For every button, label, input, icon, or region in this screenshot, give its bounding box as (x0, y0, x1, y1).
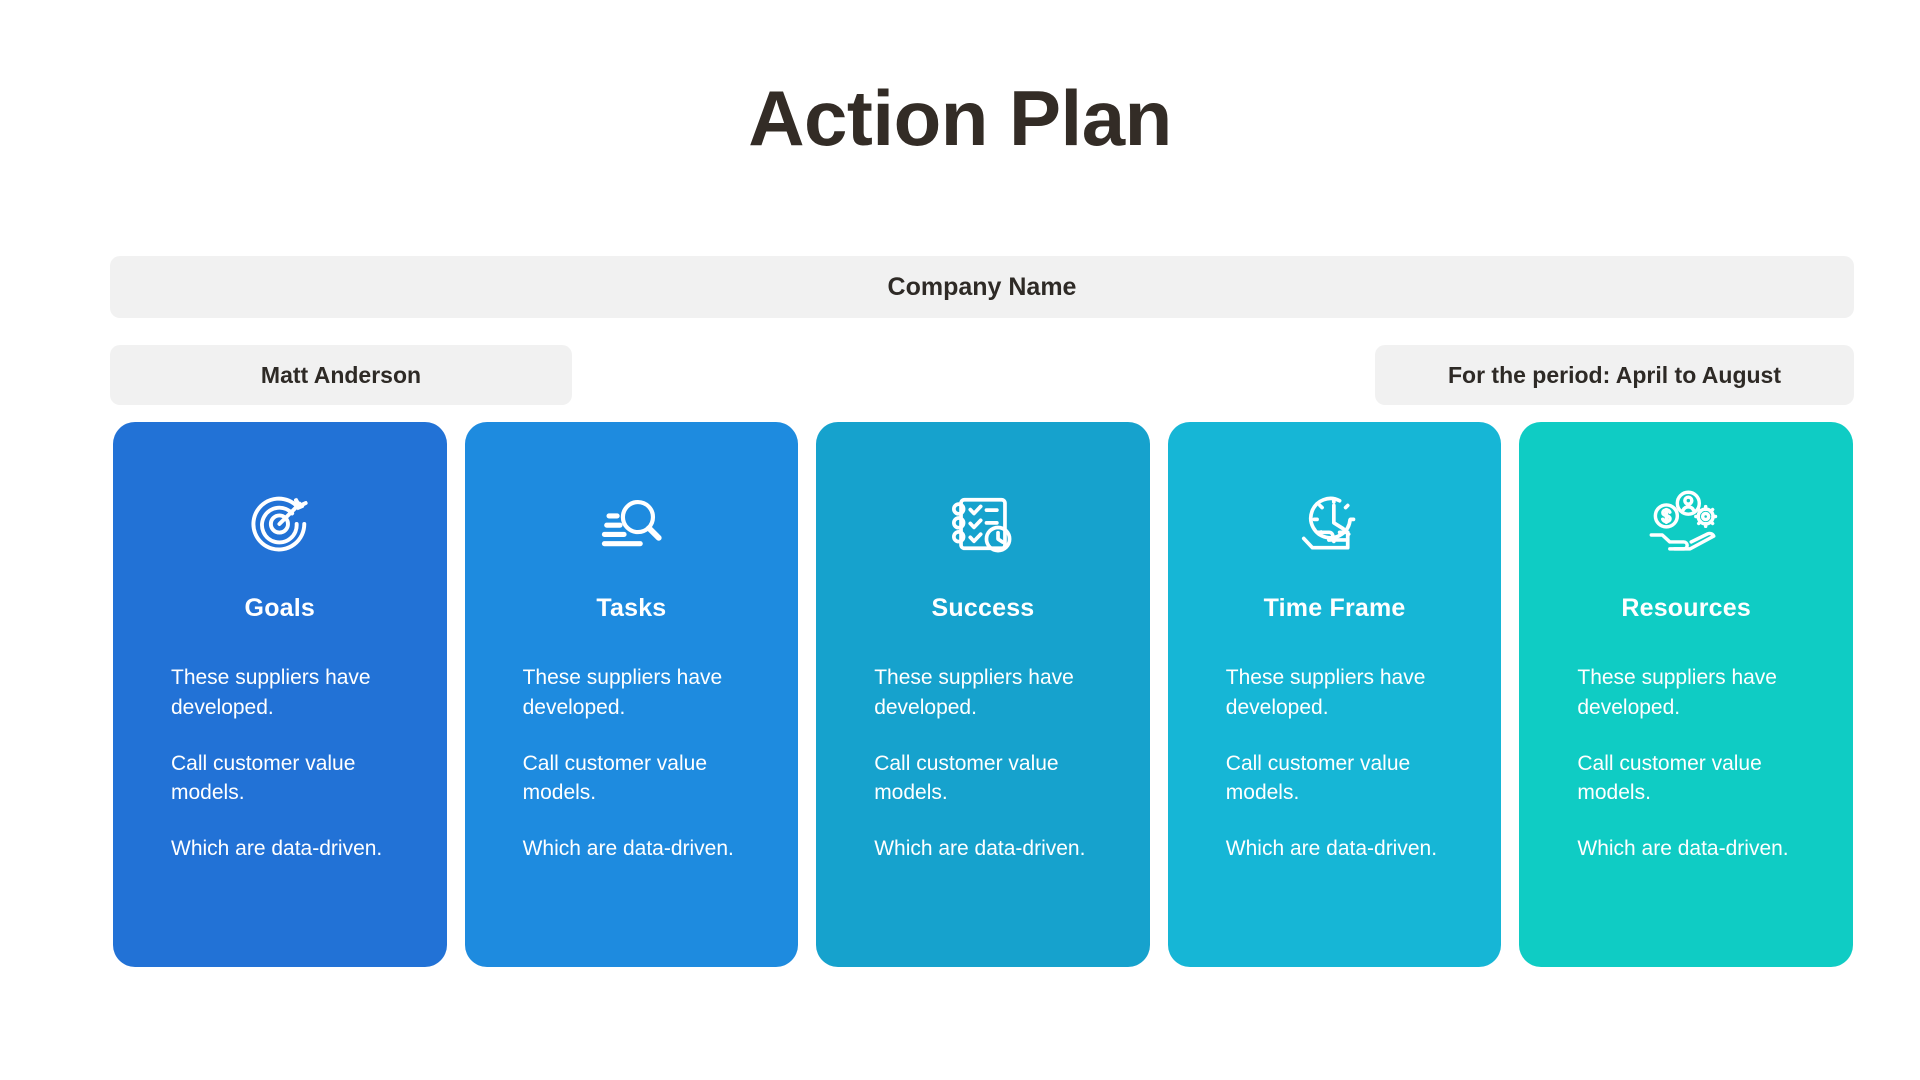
target-arrow-icon (113, 464, 447, 584)
card-line: These suppliers have developed. (523, 663, 755, 723)
card-line: Call customer value models. (1577, 749, 1809, 809)
card-line: Call customer value models. (1226, 749, 1458, 809)
period-label: For the period: April to August (1448, 362, 1781, 389)
card-title: Success (816, 594, 1150, 623)
magnifier-list-icon (465, 464, 799, 584)
card-line: Call customer value models. (523, 749, 755, 809)
owner-name-label: Matt Anderson (261, 362, 421, 389)
card-line: These suppliers have developed. (1577, 663, 1809, 723)
card-line: These suppliers have developed. (1226, 663, 1458, 723)
hand-resources-icon (1519, 464, 1853, 584)
card-line: These suppliers have developed. (874, 663, 1106, 723)
card-line: Which are data-driven. (874, 834, 1106, 864)
card-line: Which are data-driven. (1226, 834, 1458, 864)
card-title: Time Frame (1168, 594, 1502, 623)
card-line: These suppliers have developed. (171, 663, 403, 723)
card-line: Which are data-driven. (523, 834, 755, 864)
card-title: Tasks (465, 594, 799, 623)
card-body: These suppliers have developed. Call cus… (113, 663, 447, 864)
card-body: These suppliers have developed. Call cus… (465, 663, 799, 864)
card-line: Which are data-driven. (171, 834, 403, 864)
hand-clock-icon (1168, 464, 1502, 584)
company-name-label: Company Name (888, 273, 1077, 302)
card-time-frame[interactable]: Time Frame These suppliers have develope… (1168, 422, 1502, 967)
card-body: These suppliers have developed. Call cus… (1519, 663, 1853, 864)
card-goals[interactable]: Goals These suppliers have developed. Ca… (113, 422, 447, 967)
card-body: These suppliers have developed. Call cus… (816, 663, 1150, 864)
page-title: Action Plan (0, 78, 1920, 160)
company-name-bar[interactable]: Company Name (110, 256, 1854, 318)
card-line: Which are data-driven. (1577, 834, 1809, 864)
card-line: Call customer value models. (874, 749, 1106, 809)
card-row: Goals These suppliers have developed. Ca… (113, 422, 1853, 967)
card-line: Call customer value models. (171, 749, 403, 809)
card-resources[interactable]: Resources These suppliers have developed… (1519, 422, 1853, 967)
card-title: Resources (1519, 594, 1853, 623)
checklist-clock-icon (816, 464, 1150, 584)
card-success[interactable]: Success These suppliers have developed. … (816, 422, 1150, 967)
period-bar[interactable]: For the period: April to August (1375, 345, 1854, 405)
card-title: Goals (113, 594, 447, 623)
card-tasks[interactable]: Tasks These suppliers have developed. Ca… (465, 422, 799, 967)
owner-name-bar[interactable]: Matt Anderson (110, 345, 572, 405)
card-body: These suppliers have developed. Call cus… (1168, 663, 1502, 864)
slide-canvas: Action Plan Company Name Matt Anderson F… (0, 0, 1920, 1080)
